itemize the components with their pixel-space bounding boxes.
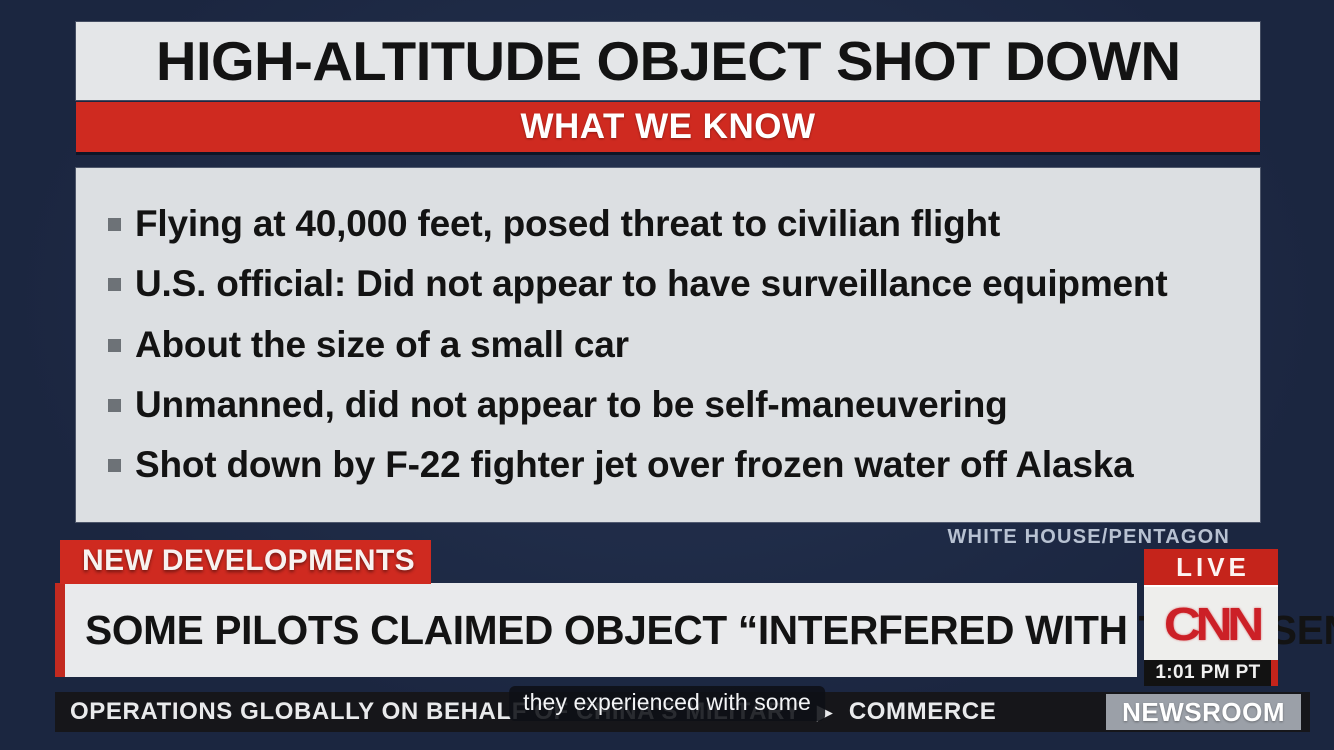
bullet-text: About the size of a small car	[135, 323, 629, 366]
square-bullet-icon	[108, 278, 121, 291]
closed-caption-overlay: they experienced with some	[509, 686, 825, 721]
list-item: About the size of a small car	[108, 323, 1240, 366]
clock-accent	[1271, 660, 1278, 686]
main-headline-box: HIGH-ALTITUDE OBJECT SHOT DOWN	[76, 22, 1260, 100]
current-time: 1:01 PM PT	[1155, 662, 1260, 684]
source-attribution: WHITE HOUSE/PENTAGON	[947, 526, 1230, 549]
bullet-text: Flying at 40,000 feet, posed threat to c…	[135, 202, 1000, 245]
new-developments-tag: NEW DEVELOPMENTS	[60, 540, 431, 584]
list-item: Unmanned, did not appear to be self-mane…	[108, 383, 1240, 426]
square-bullet-icon	[108, 399, 121, 412]
network-logo-box: CNN	[1144, 585, 1278, 660]
lower-third-accent-bar	[55, 583, 65, 677]
clock-bar: 1:01 PM PT	[1144, 660, 1278, 686]
cnn-logo: CNN	[1164, 597, 1259, 651]
bullet-text: Unmanned, did not appear to be self-mane…	[135, 383, 1008, 426]
square-bullet-icon	[108, 459, 121, 472]
list-item: U.S. official: Did not appear to have su…	[108, 262, 1240, 305]
live-branding-block: LIVE CNN 1:01 PM PT	[1144, 549, 1278, 686]
program-name: NEWSROOM	[1122, 697, 1285, 728]
list-item: Flying at 40,000 feet, posed threat to c…	[108, 202, 1240, 245]
broadcast-screen: HIGH-ALTITUDE OBJECT SHOT DOWN WHAT WE K…	[0, 0, 1334, 750]
upper-graphic-panel: HIGH-ALTITUDE OBJECT SHOT DOWN WHAT WE K…	[76, 22, 1260, 522]
bullet-text: Shot down by F-22 fighter jet over froze…	[135, 443, 1134, 486]
bullet-text: U.S. official: Did not appear to have su…	[135, 262, 1167, 305]
live-label: LIVE	[1172, 552, 1250, 583]
caption-text: they experienced with some	[523, 689, 811, 715]
list-item: Shot down by F-22 fighter jet over froze…	[108, 443, 1240, 486]
square-bullet-icon	[108, 218, 121, 231]
live-badge: LIVE	[1144, 549, 1278, 585]
program-name-box: NEWSROOM	[1106, 694, 1301, 730]
new-developments-label: NEW DEVELOPMENTS	[82, 544, 415, 578]
main-headline: HIGH-ALTITUDE OBJECT SHOT DOWN	[156, 29, 1181, 93]
lower-third-headline-box: SOME PILOTS CLAIMED OBJECT “INTERFERED W…	[55, 583, 1137, 677]
bullet-list: Flying at 40,000 feet, posed threat to c…	[76, 168, 1260, 522]
ticker-next-headline: COMMERCE	[849, 698, 996, 726]
subheadline-box: WHAT WE KNOW	[76, 102, 1260, 155]
square-bullet-icon	[108, 339, 121, 352]
subheadline: WHAT WE KNOW	[520, 107, 815, 147]
